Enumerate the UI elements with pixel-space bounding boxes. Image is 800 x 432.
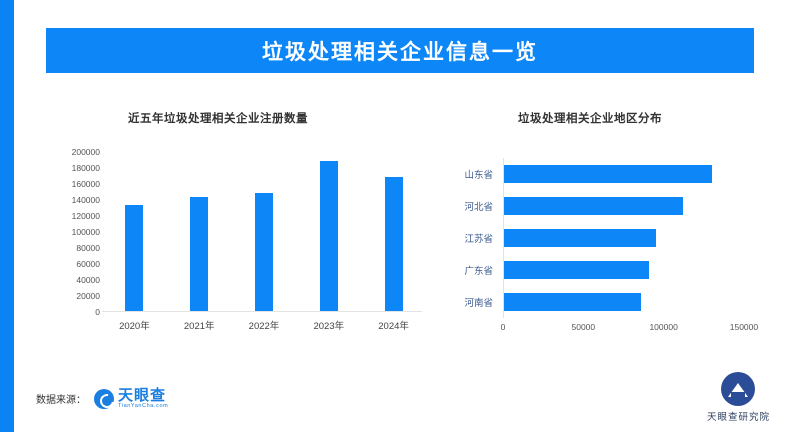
tianyancha-mark-icon xyxy=(94,389,114,409)
y-axis-tick: 0 xyxy=(95,307,100,317)
x-axis-labels: 050000100000150000 xyxy=(503,322,760,338)
x-axis-tick: 2022年 xyxy=(233,318,295,332)
x-axis-line xyxy=(102,311,422,312)
y-axis-tick: 80000 xyxy=(76,243,100,253)
x-axis-tick: 0 xyxy=(501,322,506,332)
bar-slot xyxy=(363,151,425,311)
bar[interactable] xyxy=(125,205,143,311)
tianyancha-domain: TianYanCha.com xyxy=(118,404,168,410)
x-axis-labels: 2020年2021年2022年2023年2024年 xyxy=(102,318,426,332)
category-label: 河南省 xyxy=(440,295,503,309)
x-axis-tick: 50000 xyxy=(571,322,595,332)
bar-track xyxy=(503,197,760,215)
bar-slot xyxy=(298,151,360,311)
bar[interactable] xyxy=(385,177,403,311)
bar-series: 山东省河北省江苏省广东省河南省 xyxy=(440,158,760,318)
vertical-bar-chart: 2000001800001600001400001200001000008000… xyxy=(46,152,426,337)
x-axis-tick: 150000 xyxy=(730,322,758,332)
y-axis-tick: 180000 xyxy=(72,163,100,173)
bar-row: 河南省 xyxy=(440,293,760,311)
page-title: 垃圾处理相关企业信息一览 xyxy=(262,36,538,66)
tianyancha-logo: 天眼查 TianYanCha.com xyxy=(94,388,168,410)
title-banner: 垃圾处理相关企业信息一览 xyxy=(46,28,754,73)
category-label: 山东省 xyxy=(440,167,503,181)
x-axis-tick: 2020年 xyxy=(104,318,166,332)
y-axis-tick: 160000 xyxy=(72,179,100,189)
bar-row: 江苏省 xyxy=(440,229,760,247)
y-axis-tick: 120000 xyxy=(72,211,100,221)
data-source: 数据来源： 天眼查 TianYanCha.com xyxy=(36,388,168,410)
bar[interactable] xyxy=(503,293,641,311)
y-axis-tick: 20000 xyxy=(76,291,100,301)
bar-track xyxy=(503,261,760,279)
category-label: 河北省 xyxy=(440,199,503,213)
bar-row: 河北省 xyxy=(440,197,760,215)
x-axis-tick: 2023年 xyxy=(298,318,360,332)
bar[interactable] xyxy=(503,229,656,247)
left-accent-bar xyxy=(0,0,14,432)
bar-series xyxy=(102,151,426,311)
bar[interactable] xyxy=(255,193,273,311)
category-label: 广东省 xyxy=(440,263,503,277)
institute-brand: 天眼查研究院 xyxy=(707,372,770,423)
bar-row: 山东省 xyxy=(440,165,760,183)
right-chart-title: 垃圾处理相关企业地区分布 xyxy=(518,110,662,126)
bar[interactable] xyxy=(503,165,712,183)
y-axis-tick: 100000 xyxy=(72,227,100,237)
left-chart-panel: 近五年垃圾处理相关企业注册数量 200000180000160000140000… xyxy=(46,100,426,360)
right-chart-panel: 垃圾处理相关企业地区分布 山东省河北省江苏省广东省河南省 05000010000… xyxy=(440,100,760,360)
x-axis-tick: 2024年 xyxy=(363,318,425,332)
tianyancha-name: 天眼查 xyxy=(118,388,168,403)
bar[interactable] xyxy=(190,197,208,311)
category-label: 江苏省 xyxy=(440,231,503,245)
y-axis-tick: 40000 xyxy=(76,275,100,285)
plot-area xyxy=(102,152,426,312)
x-axis-tick: 2021年 xyxy=(168,318,230,332)
bar[interactable] xyxy=(320,161,338,311)
institute-logo-icon xyxy=(721,372,755,406)
y-axis-tick: 200000 xyxy=(72,147,100,157)
bar-row: 广东省 xyxy=(440,261,760,279)
x-axis-tick: 100000 xyxy=(649,322,677,332)
bar[interactable] xyxy=(503,197,683,215)
bar[interactable] xyxy=(503,261,649,279)
bar-track xyxy=(503,293,760,311)
infographic-page: 垃圾处理相关企业信息一览 近五年垃圾处理相关企业注册数量 20000018000… xyxy=(0,0,800,432)
institute-name: 天眼查研究院 xyxy=(707,409,770,423)
bar-slot xyxy=(233,151,295,311)
source-label: 数据来源： xyxy=(36,391,86,406)
left-chart-title: 近五年垃圾处理相关企业注册数量 xyxy=(128,110,308,126)
bar-slot xyxy=(168,151,230,311)
y-axis-line xyxy=(503,158,504,318)
horizontal-bar-chart: 山东省河北省江苏省广东省河南省 050000100000150000 xyxy=(440,158,760,358)
bar-slot xyxy=(104,151,166,311)
bar-track xyxy=(503,229,760,247)
y-axis-tick: 60000 xyxy=(76,259,100,269)
bar-track xyxy=(503,165,760,183)
y-axis-labels: 2000001800001600001400001200001000008000… xyxy=(46,152,100,312)
y-axis-tick: 140000 xyxy=(72,195,100,205)
